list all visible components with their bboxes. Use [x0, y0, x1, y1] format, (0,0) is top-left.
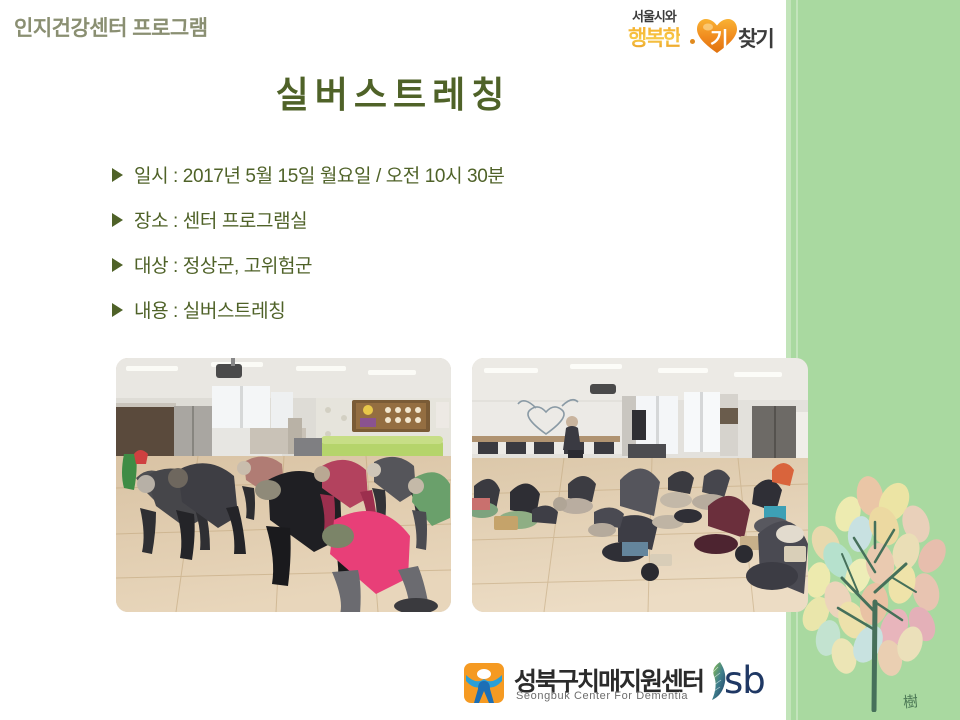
photo-standing-forward-bend-stretch — [116, 358, 451, 612]
list-item: 장소 : 센터 프로그램실 — [112, 197, 752, 242]
list-item-label: 일시 : 2017년 5월 15일 월요일 / 오전 10시 30분 — [134, 161, 504, 188]
list-item: 내용 : 실버스트레칭 — [112, 287, 752, 332]
detail-list: 일시 : 2017년 5월 15일 월요일 / 오전 10시 30분 장소 : … — [112, 152, 752, 332]
brand-dot-icon — [690, 39, 695, 44]
page-title: 실버스트레칭 — [0, 66, 786, 118]
list-item: 대상 : 정상군, 고위험군 — [112, 242, 752, 287]
triangle-right-icon — [112, 303, 123, 317]
list-item: 일시 : 2017년 5월 15일 월요일 / 오전 10시 30분 — [112, 152, 752, 197]
list-item-label: 장소 : 센터 프로그램실 — [134, 206, 307, 233]
brand-line-find: 찾기 — [738, 23, 773, 53]
sb-wordmark: sb — [724, 659, 765, 702]
pastel-leaf-tree-icon — [798, 452, 958, 712]
brand-line-happy: 행복한 — [628, 22, 680, 52]
triangle-right-icon — [112, 258, 123, 272]
presentation-slide: 樹 인지건강센터 프로그램 서울시와 행복한 기 찾기 실버스트레 — [0, 0, 960, 720]
artist-signature: 樹 — [902, 690, 917, 712]
program-header-title: 인지건강센터 프로그램 — [14, 12, 208, 42]
logo-english-name: Seongbuk Center For Dementia — [516, 690, 688, 702]
seongbuk-dementia-center-logo: 성북구치매지원센터 Seongbuk Center For Dementia s — [462, 657, 767, 709]
photo-floor-supine-stretch — [472, 358, 808, 612]
seoul-happy-memory-logo: 서울시와 행복한 기 찾기 — [628, 6, 783, 54]
seongbuk-person-icon — [462, 661, 506, 705]
triangle-right-icon — [112, 213, 123, 227]
list-item-label: 대상 : 정상군, 고위험군 — [134, 251, 312, 278]
sidebar-green-panel: 樹 — [786, 0, 960, 720]
triangle-right-icon — [112, 168, 123, 182]
heart-inner-character: 기 — [710, 23, 727, 52]
list-item-label: 내용 : 실버스트레칭 — [134, 296, 285, 323]
